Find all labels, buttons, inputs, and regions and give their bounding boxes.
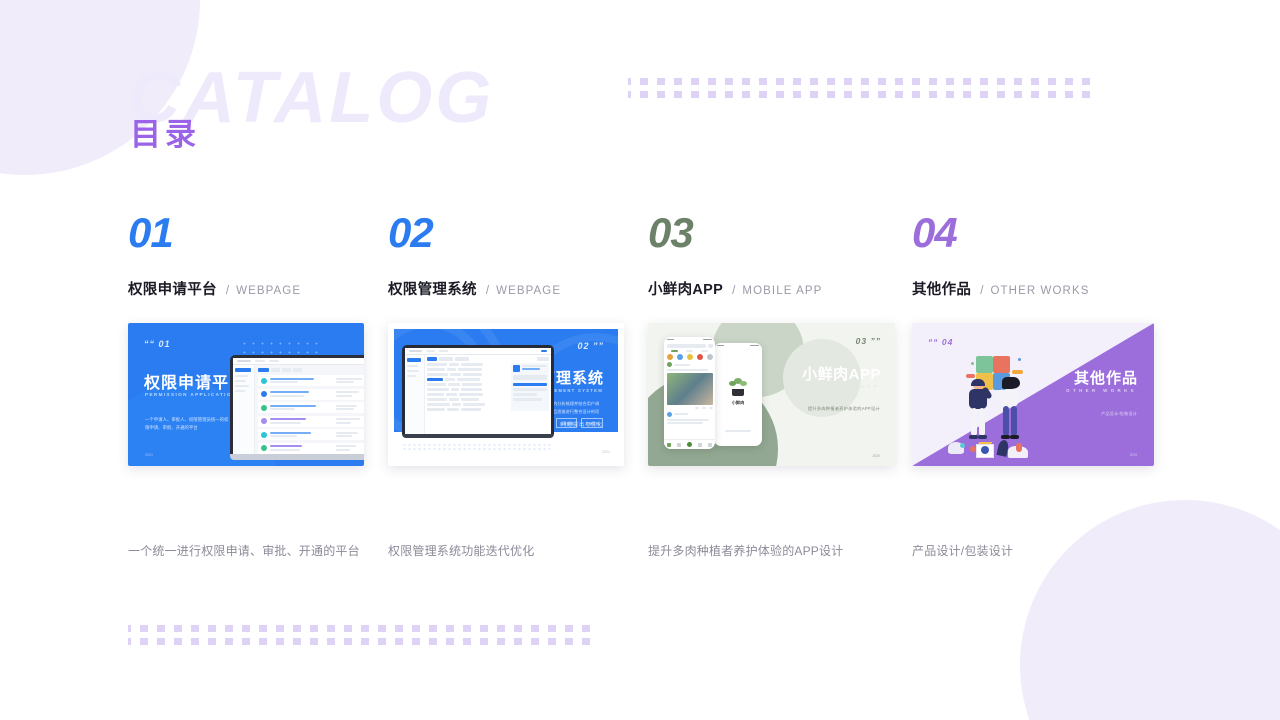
catalog-item-03[interactable]: 03 小鲜肉APP /MOBILE APP 03 ”” 小鲜肉APP MOBIL… [648, 212, 895, 466]
item-thumbnail-02[interactable]: 02 ”” 权限管理系统 PERMISSION MANAGEMENT SYSTE… [388, 323, 624, 466]
dot [582, 625, 590, 632]
dot [497, 625, 505, 632]
dot [208, 625, 216, 632]
item-number: 02 [388, 212, 624, 254]
dot [242, 638, 250, 645]
dot-row [628, 78, 1090, 85]
dot [657, 78, 665, 85]
dot [463, 625, 471, 632]
item-caption: 提升多肉种植者养护体验的APP设计 [648, 542, 843, 559]
thumb-desc: 一个申请人、审批人、权限管理员统一的权限申请、审批、开通的平台 [145, 416, 231, 433]
dot [140, 638, 148, 645]
dot [480, 625, 488, 632]
item-title: 权限申请平台 [128, 278, 217, 299]
dot [327, 625, 335, 632]
dot [980, 91, 988, 98]
dot [640, 78, 648, 85]
dot [395, 638, 403, 645]
dot [861, 78, 869, 85]
dot [844, 78, 852, 85]
dot-row [628, 91, 1090, 98]
dot [242, 625, 250, 632]
dot [344, 625, 352, 632]
thumb-desc: 提升多肉种植者养护体验的APP设计 [808, 406, 880, 412]
plant-icon [728, 378, 748, 396]
dot [1048, 78, 1056, 85]
thumb-heading: 小鲜肉APP [802, 363, 881, 384]
thumb-foot: 2021 [145, 453, 153, 457]
catalog-item-04[interactable]: 04 其他作品 /OTHER WORKS ““ 04 其他作品 OTHER WO… [912, 212, 1154, 466]
page-title: 目录 [130, 119, 200, 150]
dot [259, 638, 267, 645]
dot [514, 638, 522, 645]
item-heading: 小鲜肉APP /MOBILE APP [648, 278, 895, 299]
dot [157, 625, 165, 632]
dot [293, 638, 301, 645]
dot [174, 625, 182, 632]
thumb-artwork-mobile-app: 03 ”” 小鲜肉APP MOBILE APP 提升多肉种植者养护体验的APP设… [648, 323, 895, 466]
item-number: 04 [912, 212, 1154, 254]
dot [412, 638, 420, 645]
dot [708, 91, 716, 98]
dot [742, 91, 750, 98]
dot [1014, 91, 1022, 98]
dot [514, 625, 522, 632]
thumb-artwork-other-works: ““ 04 其他作品 OTHER WORKS 产品设计/包装设计 2019 [912, 323, 1154, 466]
thumb-artwork-permission-manage: 02 ”” 权限管理系统 PERMISSION MANAGEMENT SYSTE… [388, 323, 624, 466]
dot [759, 91, 767, 98]
dot [395, 625, 403, 632]
item-subtitle: /MOBILE APP [732, 285, 822, 297]
dot [531, 625, 539, 632]
dot [946, 91, 954, 98]
item-title: 其他作品 [912, 278, 971, 299]
catalog-item-01[interactable]: 01 权限申请平台 /WEBPAGE ““ 01 权限申请平台 PERMISSI… [128, 212, 364, 466]
dot [208, 638, 216, 645]
thumb-foot: 2020 [872, 454, 880, 458]
dot [895, 91, 903, 98]
dot [429, 638, 437, 645]
item-subtitle: /WEBPAGE [226, 285, 301, 297]
page-header: CATALOG 目录 [128, 62, 494, 134]
dot [361, 625, 369, 632]
dot [827, 78, 835, 85]
dot [742, 78, 750, 85]
dot [878, 78, 886, 85]
dot [980, 78, 988, 85]
dot [793, 78, 801, 85]
thumb-foot: 2021 [602, 450, 610, 454]
dot [1082, 91, 1090, 98]
dot [157, 638, 165, 645]
dot [429, 625, 437, 632]
dot-pattern-top-right [628, 78, 1090, 98]
item-subtitle-text: WEBPAGE [496, 285, 561, 297]
dot [929, 78, 937, 85]
dot [412, 625, 420, 632]
catalog-items: 01 权限申请平台 /WEBPAGE ““ 01 权限申请平台 PERMISSI… [128, 212, 1154, 466]
dot [827, 91, 835, 98]
dot [776, 78, 784, 85]
dot-row [128, 638, 590, 645]
dot [276, 625, 284, 632]
dot [628, 78, 631, 85]
dot [582, 638, 590, 645]
thumb-mark: ““ 04 [928, 337, 953, 347]
dot [1031, 91, 1039, 98]
dot [140, 625, 148, 632]
dot [344, 638, 352, 645]
dot [725, 91, 733, 98]
thumb-mark: ““ 01 [144, 339, 171, 349]
item-title: 小鲜肉APP [648, 278, 723, 299]
dot [1031, 78, 1039, 85]
dot [446, 638, 454, 645]
item-subtitle: /OTHER WORKS [980, 285, 1089, 297]
dot [997, 78, 1005, 85]
dot [225, 625, 233, 632]
item-heading: 权限申请平台 /WEBPAGE [128, 278, 364, 299]
thumb-mark: 02 ”” [577, 341, 604, 351]
dot [691, 78, 699, 85]
dot [463, 638, 471, 645]
item-title: 权限管理系统 [388, 278, 477, 299]
dot [725, 78, 733, 85]
item-caption: 权限管理系统功能迭代优化 [388, 542, 534, 559]
item-thumbnail-03[interactable]: 03 ”” 小鲜肉APP MOBILE APP 提升多肉种植者养护体验的APP设… [648, 323, 895, 466]
dot [191, 638, 199, 645]
dot [548, 638, 556, 645]
item-subtitle-text: OTHER WORKS [991, 285, 1090, 297]
dot [810, 78, 818, 85]
dot [310, 638, 318, 645]
thumb-sub-en: MOBILE APP [820, 384, 880, 389]
dot [640, 91, 648, 98]
dot [310, 625, 318, 632]
item-subtitle: /WEBPAGE [486, 285, 561, 297]
item-caption: 一个统一进行权限申请、审批、开通的平台 [128, 542, 360, 559]
dot [708, 78, 716, 85]
item-number: 03 [648, 212, 895, 254]
dot [844, 91, 852, 98]
dot [878, 91, 886, 98]
dot [259, 625, 267, 632]
app-name: 小鲜肉 [714, 400, 762, 406]
dot [691, 91, 699, 98]
dot [997, 91, 1005, 98]
dot [191, 625, 199, 632]
item-heading: 其他作品 /OTHER WORKS [912, 278, 1154, 299]
dot [963, 91, 971, 98]
thumb-foot: 2019 [1130, 453, 1137, 457]
dot-pattern-bottom-left [128, 625, 590, 645]
dot [674, 78, 682, 85]
dot [531, 638, 539, 645]
dot [759, 78, 767, 85]
laptop-mockup [230, 355, 364, 460]
dot [174, 638, 182, 645]
dot-row [128, 625, 590, 632]
dot [674, 91, 682, 98]
dot [912, 91, 920, 98]
dot [657, 91, 665, 98]
item-subtitle-text: WEBPAGE [236, 285, 301, 297]
dot [861, 91, 869, 98]
dot [1048, 91, 1056, 98]
dot [793, 91, 801, 98]
illustration-people-puzzle [942, 348, 1062, 458]
dot [480, 638, 488, 645]
thumb-tagline: 问题提出与优化 [561, 421, 603, 428]
dot [327, 638, 335, 645]
phone-mockup-splash: 小鲜肉 [714, 343, 762, 446]
item-heading: 权限管理系统 /WEBPAGE [388, 278, 624, 299]
dot [128, 638, 131, 645]
dot [497, 638, 505, 645]
thumb-heading: 其他作品 [1074, 367, 1138, 388]
item-subtitle-text: MOBILE APP [742, 285, 822, 297]
dot [128, 625, 131, 632]
dot [912, 78, 920, 85]
dot [810, 91, 818, 98]
laptop-screen [233, 358, 364, 454]
decorative-circle-bottom-right [1020, 500, 1280, 720]
dot [548, 625, 556, 632]
dot [963, 78, 971, 85]
dot-texture [402, 443, 552, 450]
dot [1065, 91, 1073, 98]
thumb-sub-en: OTHER WORKS [1066, 388, 1137, 393]
dot [361, 638, 369, 645]
dot [776, 91, 784, 98]
dot [946, 78, 954, 85]
dot [276, 638, 284, 645]
dot [446, 625, 454, 632]
dot [378, 638, 386, 645]
dot [293, 625, 301, 632]
thumb-mark: 03 ”” [856, 336, 881, 346]
dot [1082, 78, 1090, 85]
thumb-desc: 产品设计/包装设计 [1101, 411, 1137, 417]
dot [225, 638, 233, 645]
dot [628, 91, 631, 98]
dot [565, 625, 573, 632]
dot [1065, 78, 1073, 85]
item-thumbnail-04[interactable]: ““ 04 其他作品 OTHER WORKS 产品设计/包装设计 2019 [912, 323, 1154, 466]
dot [565, 638, 573, 645]
dot [895, 78, 903, 85]
item-thumbnail-01[interactable]: ““ 01 权限申请平台 PERMISSION APPLICATION PLAT… [128, 323, 364, 466]
item-caption: 产品设计/包装设计 [912, 542, 1013, 559]
thumb-artwork-permission-apply: ““ 01 权限申请平台 PERMISSION APPLICATION PLAT… [128, 323, 364, 466]
dot [378, 625, 386, 632]
catalog-item-02[interactable]: 02 权限管理系统 /WEBPAGE 02 ”” 权限管理系统 PERMISSI… [388, 212, 624, 466]
dot [1014, 78, 1022, 85]
laptop-mockup [402, 345, 554, 438]
dot [929, 91, 937, 98]
phone-mockup-feed [664, 337, 715, 449]
item-number: 01 [128, 212, 364, 254]
